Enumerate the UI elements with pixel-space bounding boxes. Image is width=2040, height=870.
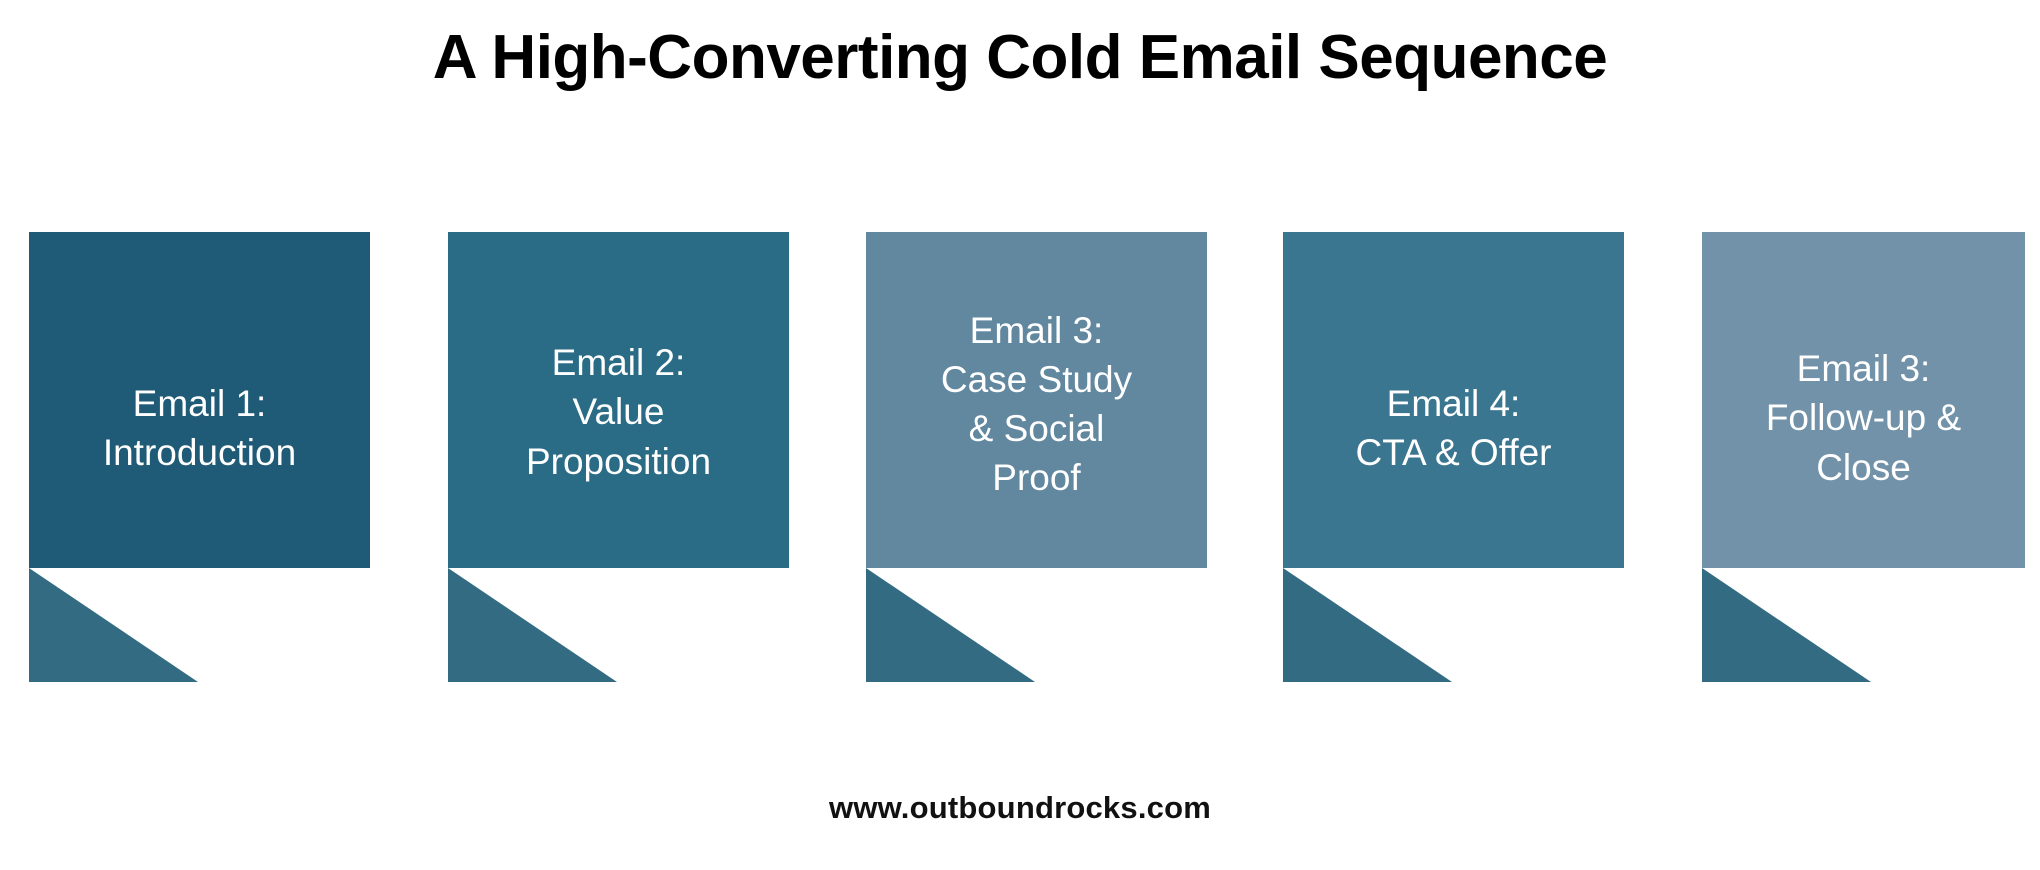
email-sequence-banner-row: Email 1: Introduction Email 2: Value Pro… bbox=[0, 232, 2040, 692]
banner-body-email-1: Email 1: Introduction bbox=[29, 232, 370, 568]
sequence-step-email-2[interactable]: Email 2: Value Proposition bbox=[448, 232, 789, 682]
tail-triangle-left-icon bbox=[1702, 568, 1871, 682]
tail-triangle-left-icon bbox=[866, 568, 1035, 682]
banner-tail-email-5 bbox=[1702, 568, 2025, 682]
banner-label-email-5: Email 3: Follow-up & Close bbox=[1750, 344, 1977, 492]
infographic-canvas: A High-Converting Cold Email Sequence Em… bbox=[0, 0, 2040, 870]
banner-label-email-3: Email 3: Case Study & Social Proof bbox=[925, 306, 1148, 503]
banner-body-email-2: Email 2: Value Proposition bbox=[448, 232, 789, 568]
tail-triangle-left-icon bbox=[448, 568, 617, 682]
banner-body-email-5: Email 3: Follow-up & Close bbox=[1702, 232, 2025, 568]
banner-label-email-4: Email 4: CTA & Offer bbox=[1339, 379, 1567, 477]
sequence-step-email-1[interactable]: Email 1: Introduction bbox=[29, 232, 370, 682]
tail-triangle-left-icon bbox=[29, 568, 198, 682]
sequence-step-email-3[interactable]: Email 3: Case Study & Social Proof bbox=[866, 232, 1207, 682]
footer-website: www.outboundrocks.com bbox=[0, 790, 2040, 826]
banner-label-email-2: Email 2: Value Proposition bbox=[510, 338, 727, 486]
sequence-step-email-4[interactable]: Email 4: CTA & Offer bbox=[1283, 232, 1624, 682]
banner-body-email-4: Email 4: CTA & Offer bbox=[1283, 232, 1624, 568]
banner-tail-email-4 bbox=[1283, 568, 1624, 682]
page-title: A High-Converting Cold Email Sequence bbox=[0, 22, 2040, 93]
tail-triangle-left-icon bbox=[1283, 568, 1452, 682]
banner-tail-email-2 bbox=[448, 568, 789, 682]
banner-tail-email-3 bbox=[866, 568, 1207, 682]
banner-tail-email-1 bbox=[29, 568, 370, 682]
sequence-step-email-5[interactable]: Email 3: Follow-up & Close bbox=[1702, 232, 2025, 682]
banner-label-email-1: Email 1: Introduction bbox=[87, 379, 312, 477]
banner-body-email-3: Email 3: Case Study & Social Proof bbox=[866, 232, 1207, 568]
